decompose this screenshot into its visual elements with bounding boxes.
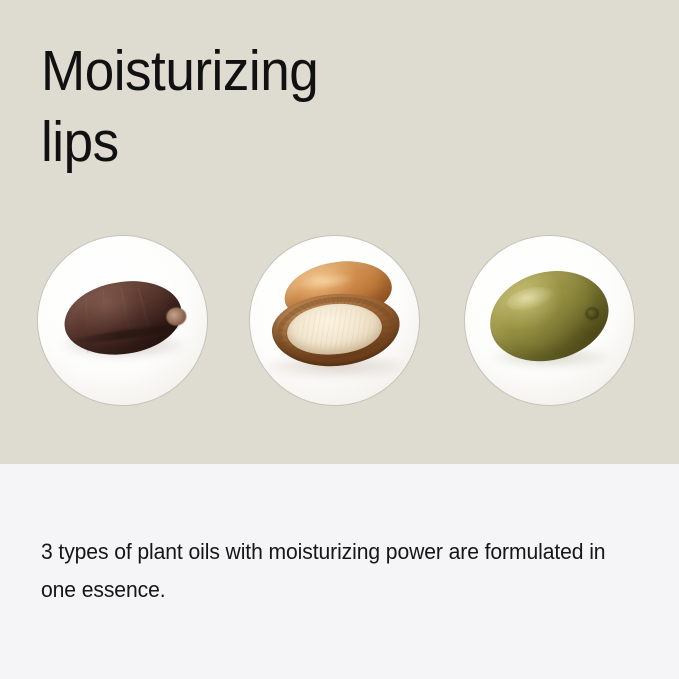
jojoba-ridge bbox=[85, 293, 90, 354]
ingredient-circle-row bbox=[0, 236, 679, 406]
product-feature-image: Moisturizing lips bbox=[0, 0, 679, 679]
green-olive-photo bbox=[465, 236, 634, 405]
olive-highlight bbox=[504, 283, 556, 315]
caption-text: 3 types of plant oils with moisturizing … bbox=[41, 533, 617, 609]
jojoba-seed-photo bbox=[38, 236, 207, 405]
caption-panel: 3 types of plant oils with moisturizing … bbox=[0, 464, 679, 679]
ingredient-circle-jojoba-seed bbox=[38, 236, 207, 405]
ingredient-circle-green-olive bbox=[465, 236, 634, 405]
jojoba-ridge bbox=[120, 286, 134, 349]
hero-panel: Moisturizing lips bbox=[0, 0, 679, 464]
jojoba-ridge bbox=[101, 288, 110, 353]
jojoba-tip bbox=[165, 306, 187, 327]
argan-nut-photo bbox=[250, 236, 419, 405]
ingredient-circle-argan-nut bbox=[250, 236, 419, 405]
page-title: Moisturizing lips bbox=[41, 36, 562, 178]
olive-stem-scar bbox=[585, 306, 601, 321]
